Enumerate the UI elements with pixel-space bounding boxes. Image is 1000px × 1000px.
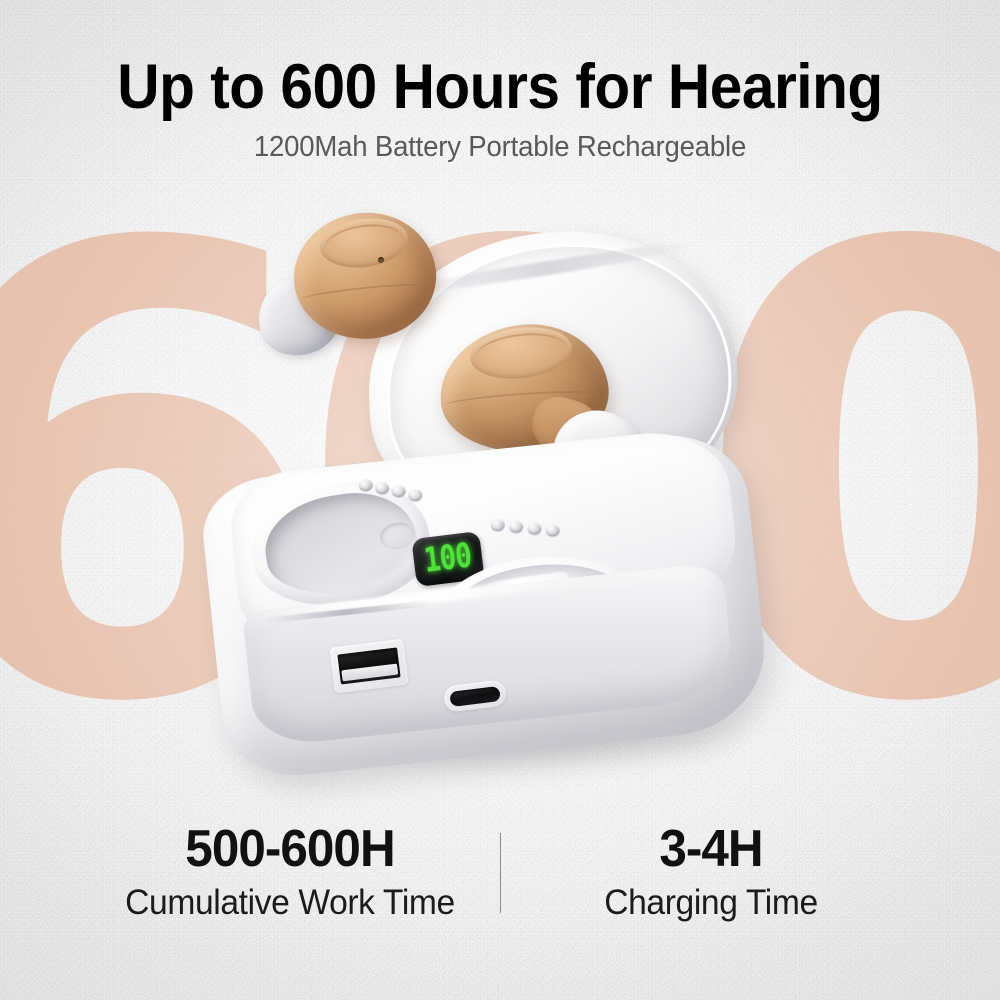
earbud-left-microphone-hole <box>378 257 384 263</box>
battery-percentage-value: 100 <box>423 539 474 578</box>
product-illustration: 100 <box>190 205 810 785</box>
product-feature-banner: 600 Up to 600 Hours for Hearing 1200Mah … <box>0 0 1000 1000</box>
stat-label: Cumulative Work Time <box>88 884 491 923</box>
page-title: Up to 600 Hours for Hearing <box>35 56 965 119</box>
stat-label: Charging Time <box>509 884 912 923</box>
stat-value: 3-4H <box>511 822 910 877</box>
stat-charging-time: 3-4H Charging Time <box>501 822 921 922</box>
earbud-left <box>250 205 450 370</box>
stats-row: 500-600H Cumulative Work Time 3-4H Charg… <box>0 822 1000 942</box>
stat-value: 500-600H <box>90 822 489 877</box>
page-subtitle: 1200Mah Battery Portable Rechargeable <box>25 133 975 162</box>
usb-a-port <box>329 639 408 694</box>
stat-cumulative-work-time: 500-600H Cumulative Work Time <box>80 822 500 922</box>
